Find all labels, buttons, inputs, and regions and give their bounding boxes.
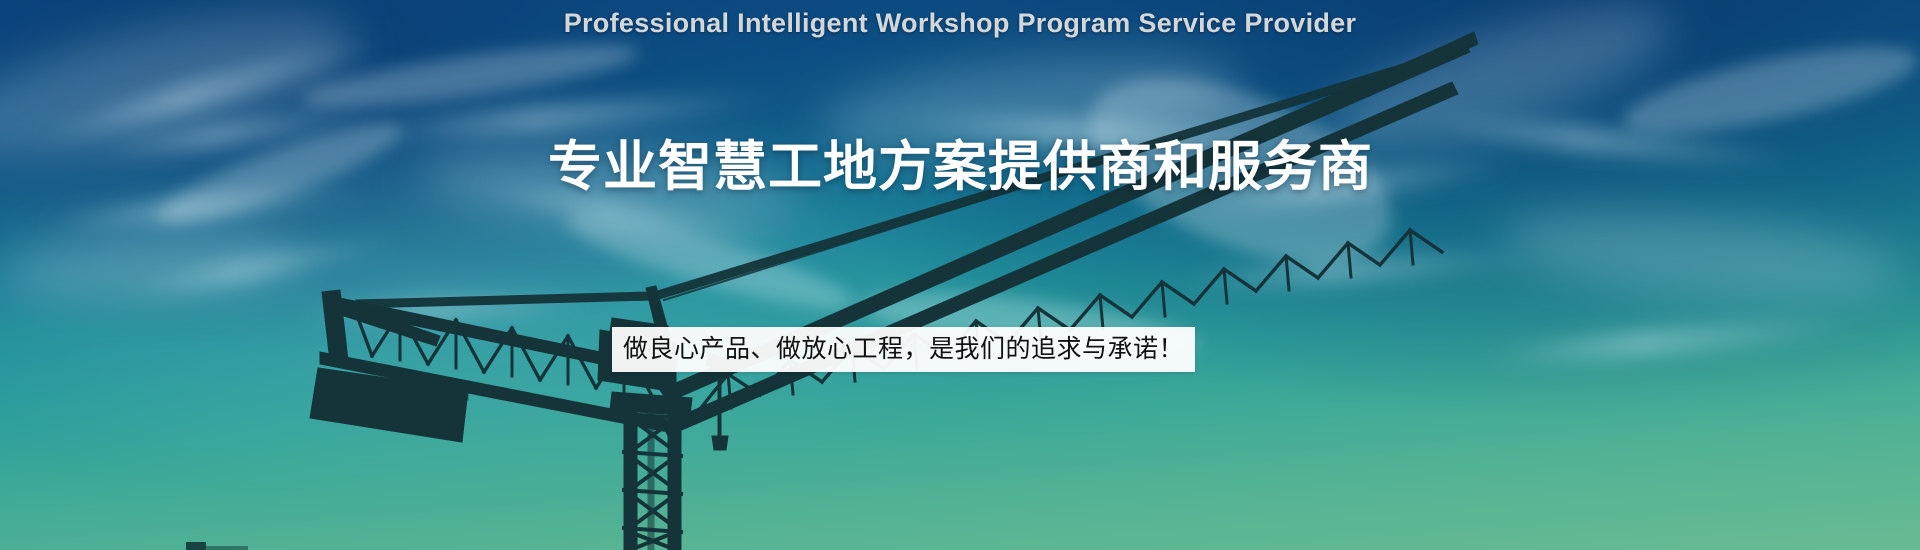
banner-eyebrow-title: Professional Intelligent Workshop Progra… — [0, 8, 1920, 39]
tower-crane-silhouette — [0, 0, 1920, 550]
banner-tagline: 做良心产品、做放心工程，是我们的追求与承诺！ — [623, 337, 1184, 362]
banner-tagline-box: 做良心产品、做放心工程，是我们的追求与承诺！ — [612, 327, 1195, 372]
crane-group — [310, 32, 1478, 550]
apex-tie-left — [356, 292, 652, 308]
banner-headline: 专业智慧工地方案提供商和服务商 — [548, 122, 1373, 201]
hoist-cable — [718, 374, 721, 436]
hook-block — [712, 436, 728, 450]
hero-banner: Professional Intelligent Workshop Progra… — [0, 0, 1920, 550]
distant-building — [206, 546, 248, 550]
distant-building — [186, 542, 206, 550]
